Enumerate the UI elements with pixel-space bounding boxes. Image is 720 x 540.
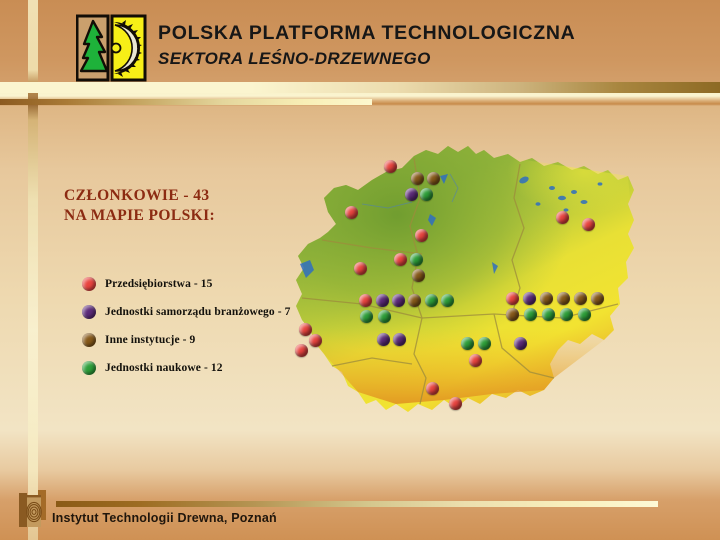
map-marker-21: [377, 333, 390, 346]
map-marker-30: [574, 292, 587, 305]
map-marker-37: [514, 337, 527, 350]
map-marker-10: [410, 253, 423, 266]
map-marker-22: [393, 333, 406, 346]
map-marker-14: [376, 294, 389, 307]
map-marker-34: [542, 308, 555, 321]
header-title-line2: SEKTORA LEŚNO-DRZEWNEGO: [158, 47, 698, 71]
map-marker-28: [540, 292, 553, 305]
map-marker-38: [461, 337, 474, 350]
legend-bullet-icon: [82, 361, 96, 375]
poland-map: [262, 128, 682, 473]
map-legend: Przedsiębiorstwa - 15Jednostki samorządu…: [82, 270, 291, 382]
map-marker-1: [411, 172, 424, 185]
map-marker-35: [560, 308, 573, 321]
map-marker-33: [524, 308, 537, 321]
map-marker-6: [556, 211, 569, 224]
decorative-header-band: [0, 82, 720, 93]
map-marker-11: [412, 269, 425, 282]
map-marker-41: [426, 382, 439, 395]
footer-text: Instytut Technologii Drewna, Poznań: [52, 511, 277, 525]
map-marker-42: [449, 397, 462, 410]
map-marker-32: [506, 308, 519, 321]
map-marker-18: [441, 294, 454, 307]
map-marker-13: [359, 294, 372, 307]
page-title-line2: NA MAPIE POLSKI:: [64, 206, 215, 226]
map-marker-39: [478, 337, 491, 350]
page-title: CZŁONKOWIE - 43 NA MAPIE POLSKI:: [64, 186, 215, 226]
legend-item-label: Jednostki samorządu branżowego - 7: [105, 306, 291, 318]
footer-divider: [56, 501, 658, 507]
legend-item: Jednostki samorządu branżowego - 7: [82, 298, 291, 326]
map-marker-23: [299, 323, 312, 336]
legend-item-label: Jednostki naukowe - 12: [105, 362, 223, 374]
wood-rings-logo: [18, 489, 52, 529]
map-marker-17: [425, 294, 438, 307]
map-marker-5: [345, 206, 358, 219]
map-marker-24: [309, 334, 322, 347]
map-marker-29: [557, 292, 570, 305]
map-marker-20: [378, 310, 391, 323]
map-marker-36: [578, 308, 591, 321]
map-marker-27: [523, 292, 536, 305]
map-marker-8: [415, 229, 428, 242]
legend-item-label: Inne instytucje - 9: [105, 334, 195, 346]
page-title-line1: CZŁONKOWIE - 43: [64, 186, 215, 206]
map-marker-12: [354, 262, 367, 275]
map-marker-25: [295, 344, 308, 357]
map-marker-26: [506, 292, 519, 305]
map-marker-19: [360, 310, 373, 323]
map-marker-15: [392, 294, 405, 307]
legend-bullet-icon: [82, 333, 96, 347]
map-marker-0: [384, 160, 397, 173]
legend-item: Przedsiębiorstwa - 15: [82, 270, 291, 298]
slide-canvas: POLSKA PLATFORMA TECHNOLOGICZNA SEKTORA …: [0, 0, 720, 540]
map-marker-7: [582, 218, 595, 231]
map-marker-40: [469, 354, 482, 367]
decorative-vertical-stripe: [28, 0, 38, 540]
decorative-header-underline: [0, 99, 372, 105]
legend-bullet-icon: [82, 277, 96, 291]
map-marker-3: [405, 188, 418, 201]
map-marker-16: [408, 294, 421, 307]
map-marker-2: [427, 172, 440, 185]
header-title-line1: POLSKA PLATFORMA TECHNOLOGICZNA: [158, 20, 698, 47]
header-title-block: POLSKA PLATFORMA TECHNOLOGICZNA SEKTORA …: [158, 20, 698, 71]
map-marker-9: [394, 253, 407, 266]
map-marker-4: [420, 188, 433, 201]
legend-item: Inne instytucje - 9: [82, 326, 291, 354]
map-marker-31: [591, 292, 604, 305]
legend-item-label: Przedsiębiorstwa - 15: [105, 278, 213, 290]
poland-map-svg: [262, 128, 682, 473]
tree-and-sawblade-logo: [76, 14, 150, 82]
legend-item: Jednostki naukowe - 12: [82, 354, 291, 382]
legend-bullet-icon: [82, 305, 96, 319]
